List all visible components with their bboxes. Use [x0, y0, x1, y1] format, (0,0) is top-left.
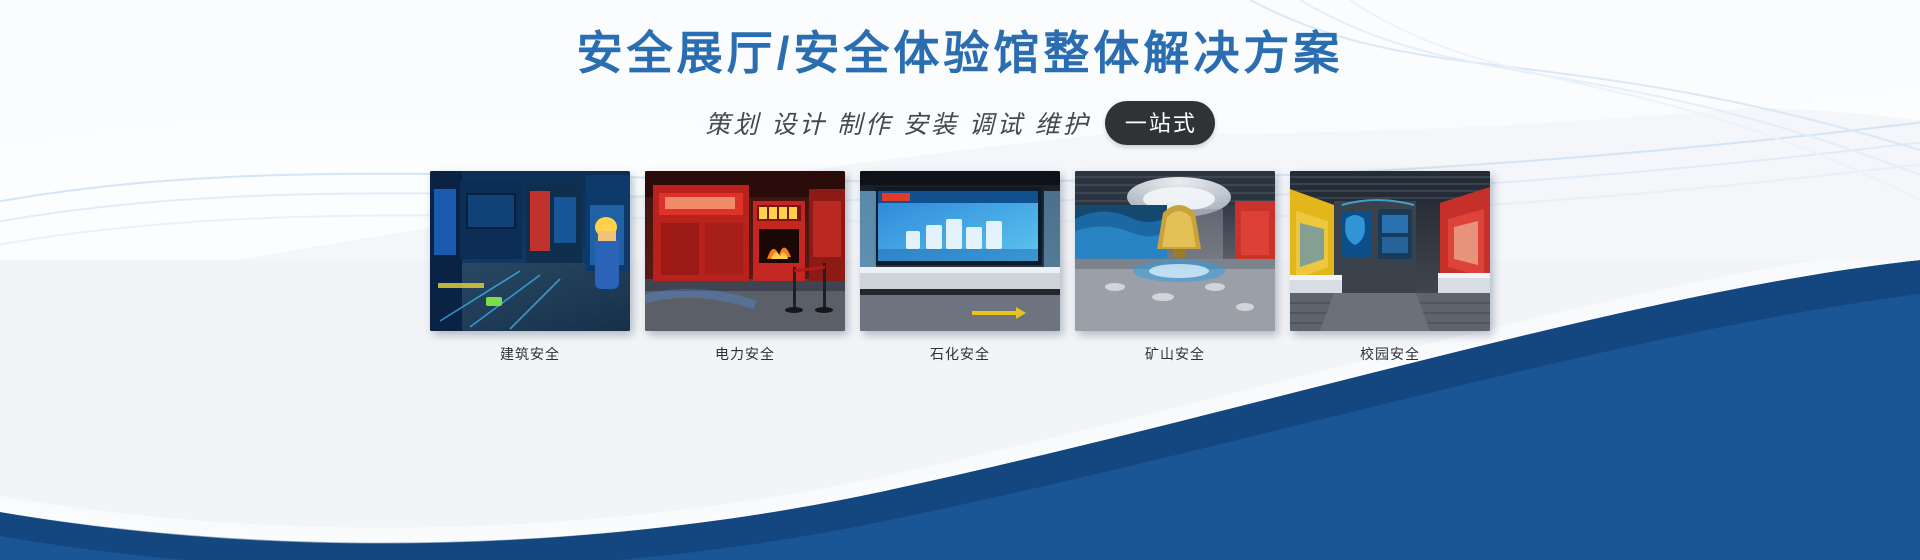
solution-card-label: 矿山安全: [1075, 344, 1275, 364]
banner-content: 安全展厅/安全体验馆整体解决方案 策划 设计 制作 安装 调试 维护 一站式: [0, 0, 1920, 364]
construction-safety-hall-thumbnail[interactable]: [430, 171, 630, 331]
solution-card[interactable]: 建筑安全: [430, 171, 630, 364]
solution-card-label: 石化安全: [860, 344, 1060, 364]
mine-safety-hall-thumbnail[interactable]: [1075, 171, 1275, 331]
service-steps: 策划 设计 制作 安装 调试 维护 一站式: [0, 101, 1920, 145]
electric-power-safety-hall-thumbnail[interactable]: [645, 171, 845, 331]
solution-card[interactable]: 矿山安全: [1075, 171, 1275, 364]
campus-safety-hall-thumbnail[interactable]: [1290, 171, 1490, 331]
solution-card[interactable]: 电力安全: [645, 171, 845, 364]
solution-card-label: 建筑安全: [430, 344, 630, 364]
petrochemical-safety-hall-thumbnail[interactable]: [860, 171, 1060, 331]
one-stop-badge: 一站式: [1105, 101, 1215, 145]
solution-card[interactable]: 石化安全: [860, 171, 1060, 364]
solution-card-label: 电力安全: [645, 344, 845, 364]
solution-card-list: 建筑安全: [430, 171, 1490, 364]
service-steps-text: 策划 设计 制作 安装 调试 维护: [705, 105, 1091, 141]
promo-banner: 安全展厅/安全体验馆整体解决方案 策划 设计 制作 安装 调试 维护 一站式: [0, 0, 1920, 560]
solution-card-label: 校园安全: [1290, 344, 1490, 364]
solution-card[interactable]: 校园安全: [1290, 171, 1490, 364]
page-title: 安全展厅/安全体验馆整体解决方案: [0, 26, 1920, 81]
